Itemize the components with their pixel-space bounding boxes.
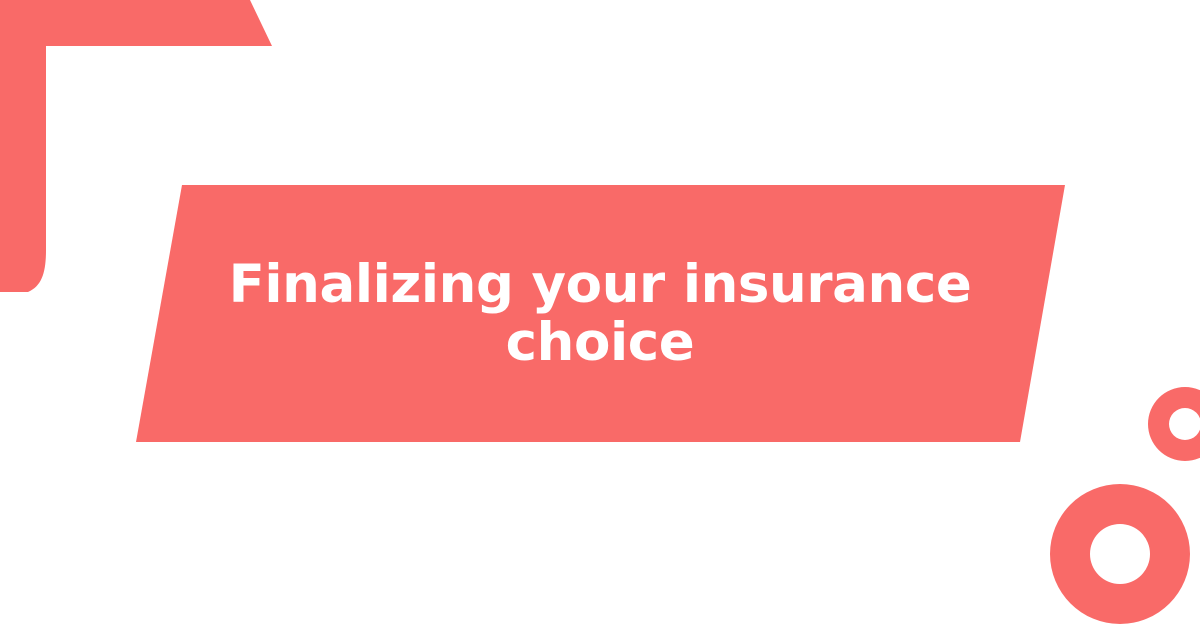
banner-shape bbox=[136, 185, 1065, 442]
ring-small-shape bbox=[1148, 387, 1200, 461]
decorative-artwork bbox=[0, 0, 1200, 630]
social-card: Finalizing your insurance choice bbox=[0, 0, 1200, 630]
ring-large-shape bbox=[1050, 484, 1190, 624]
